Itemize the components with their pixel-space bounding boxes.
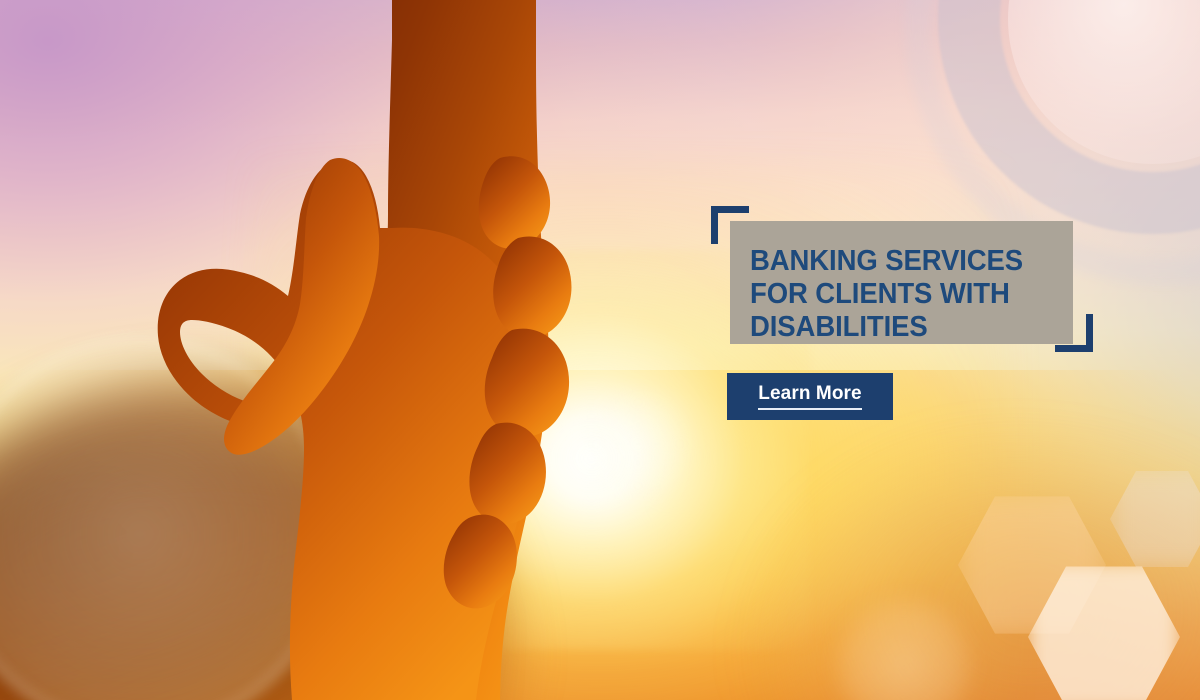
corner-bracket-bottom-right-icon <box>1055 314 1093 352</box>
learn-more-button-label: Learn More <box>758 383 861 410</box>
hero-banner: BANKING SERVICES FOR CLIENTS WITH DISABI… <box>0 0 1200 700</box>
page-title: BANKING SERVICES FOR CLIENTS WITH DISABI… <box>750 245 1068 344</box>
bokeh-circle-center <box>586 392 690 496</box>
finger-knuckle-2 <box>493 236 571 337</box>
learn-more-button[interactable]: Learn More <box>727 373 893 420</box>
